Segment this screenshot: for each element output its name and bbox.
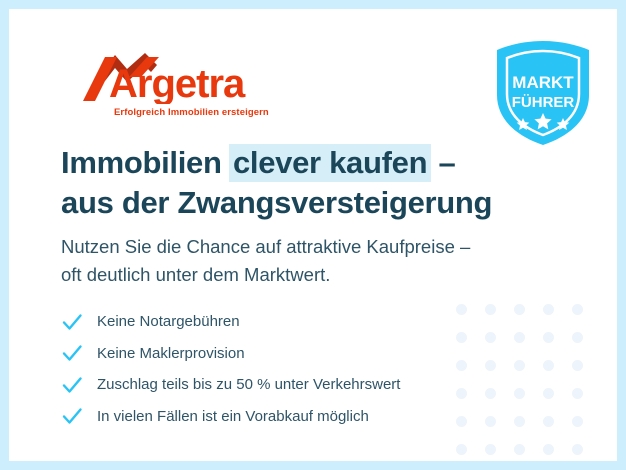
decoration-dot bbox=[514, 304, 525, 315]
page-subtitle: Nutzen Sie die Chance auf attraktive Kau… bbox=[61, 233, 551, 289]
list-item: In vielen Fällen ist ein Vorabkauf mögli… bbox=[61, 402, 511, 431]
argetra-logo[interactable]: Argetra Erfolgreich Immobilien ersteiger… bbox=[61, 49, 261, 104]
promo-banner: Argetra Erfolgreich Immobilien ersteiger… bbox=[0, 0, 626, 470]
decoration-dot bbox=[456, 444, 467, 455]
decoration-dot bbox=[572, 388, 583, 399]
svg-text:Argetra: Argetra bbox=[109, 62, 246, 104]
decoration-dot bbox=[514, 444, 525, 455]
decoration-dot bbox=[572, 416, 583, 427]
logo-tagline: Erfolgreich Immobilien ersteigern bbox=[114, 107, 269, 118]
decoration-dot bbox=[572, 444, 583, 455]
argetra-roof-arrow-icon: Argetra bbox=[61, 49, 251, 104]
decoration-dot bbox=[514, 332, 525, 343]
check-icon bbox=[61, 342, 83, 364]
check-icon bbox=[61, 311, 83, 333]
check-icon bbox=[61, 405, 83, 427]
subhead-line1: Nutzen Sie die Chance auf attraktive Kau… bbox=[61, 236, 470, 257]
decoration-dot bbox=[514, 388, 525, 399]
decoration-dot bbox=[514, 416, 525, 427]
headline-part2: – bbox=[430, 145, 455, 180]
headline-highlight: clever kaufen bbox=[229, 144, 431, 182]
decoration-dot bbox=[543, 388, 554, 399]
market-leader-badge: MARKT FÜHRER bbox=[493, 39, 593, 147]
decoration-dot bbox=[514, 360, 525, 371]
list-item-label: Keine Notargebühren bbox=[97, 313, 240, 330]
benefits-list: Keine Notargebühren Keine Maklerprovisio… bbox=[61, 307, 511, 433]
list-item: Keine Maklerprovision bbox=[61, 339, 511, 368]
shield-icon: MARKT FÜHRER bbox=[493, 39, 593, 147]
banner-card: Argetra Erfolgreich Immobilien ersteiger… bbox=[9, 9, 617, 461]
decoration-dot bbox=[543, 332, 554, 343]
headline-part1: Immobilien bbox=[61, 145, 230, 180]
badge-line1: MARKT bbox=[512, 73, 574, 92]
list-item: Keine Notargebühren bbox=[61, 307, 511, 336]
list-item-label: In vielen Fällen ist ein Vorabkauf mögli… bbox=[97, 408, 369, 425]
decoration-dot bbox=[485, 444, 496, 455]
list-item-label: Zuschlag teils bis zu 50 % unter Verkehr… bbox=[97, 376, 400, 393]
check-icon bbox=[61, 374, 83, 396]
list-item-label: Keine Maklerprovision bbox=[97, 345, 245, 362]
headline-line2: aus der Zwangsversteigerung bbox=[61, 185, 492, 220]
decoration-dot bbox=[572, 332, 583, 343]
decoration-dot bbox=[543, 444, 554, 455]
badge-line2: FÜHRER bbox=[512, 94, 575, 111]
decoration-dot bbox=[543, 360, 554, 371]
page-title: Immobilien clever kaufen – aus der Zwang… bbox=[61, 143, 531, 222]
logo-mark: Argetra bbox=[61, 49, 251, 104]
list-item: Zuschlag teils bis zu 50 % unter Verkehr… bbox=[61, 370, 511, 399]
decoration-dot bbox=[572, 304, 583, 315]
decoration-dot bbox=[572, 360, 583, 371]
decoration-dot bbox=[543, 304, 554, 315]
decoration-dot bbox=[543, 416, 554, 427]
subhead-line2: oft deutlich unter dem Marktwert. bbox=[61, 264, 330, 285]
